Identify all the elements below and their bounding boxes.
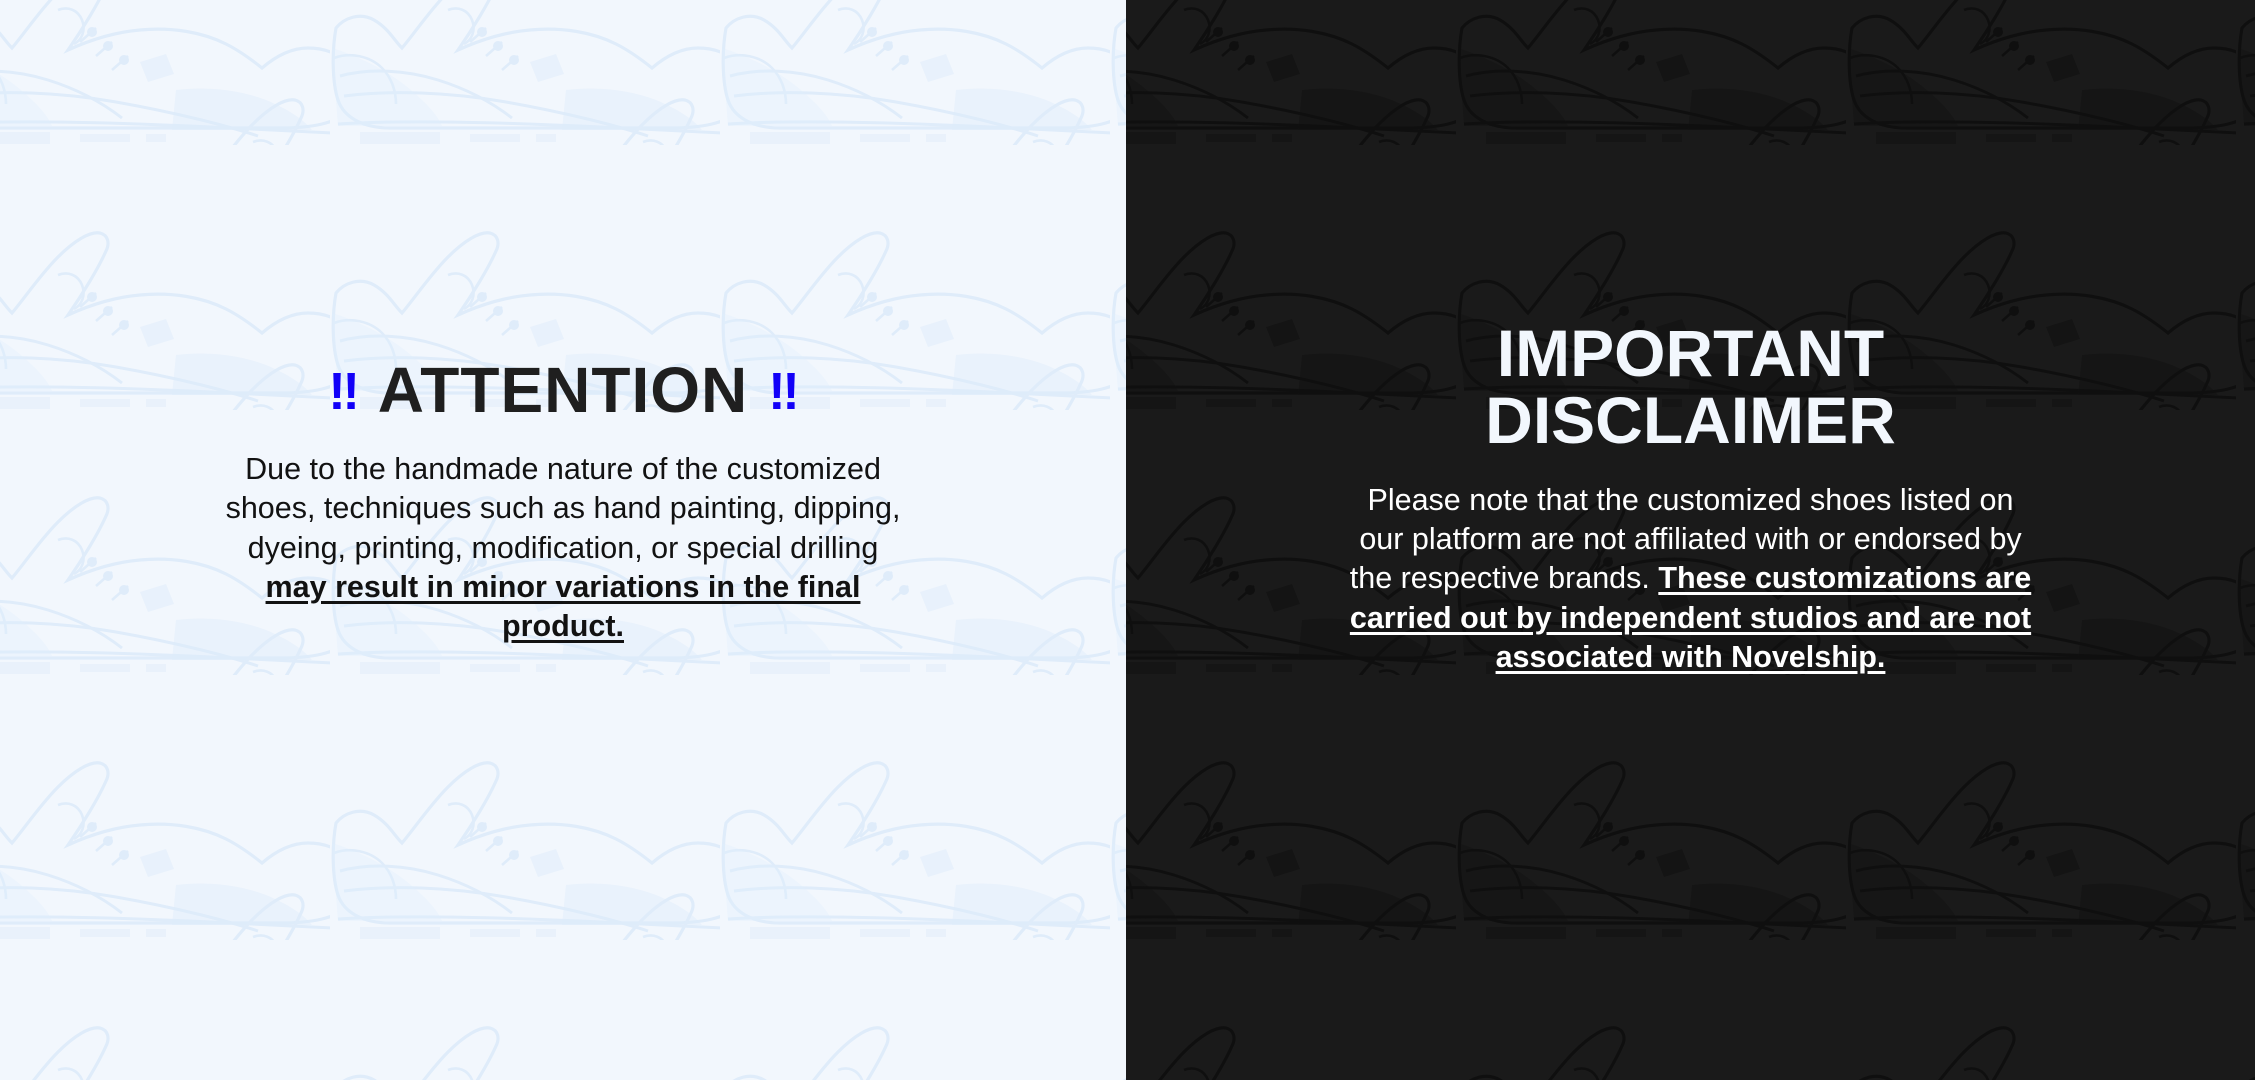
disclaimer-banner: ‼ATTENTION‼ Due to the handmade nature o… bbox=[0, 0, 2255, 1080]
attention-body-plain: Due to the handmade nature of the custom… bbox=[226, 452, 901, 565]
double-exclamation-icon-right: ‼ bbox=[768, 363, 797, 421]
disclaimer-headline: IMPORTANT DISCLAIMER bbox=[1381, 320, 2001, 455]
attention-panel: ‼ATTENTION‼ Due to the handmade nature o… bbox=[0, 0, 1126, 1080]
disclaimer-body: Please note that the customized shoes li… bbox=[1346, 481, 2036, 678]
attention-content: ‼ATTENTION‼ Due to the handmade nature o… bbox=[0, 0, 1126, 647]
disclaimer-content: IMPORTANT DISCLAIMER Please note that th… bbox=[1126, 0, 2255, 677]
disclaimer-panel: IMPORTANT DISCLAIMER Please note that th… bbox=[1126, 0, 2255, 1080]
double-exclamation-icon-left: ‼ bbox=[328, 363, 357, 421]
attention-body: Due to the handmade nature of the custom… bbox=[223, 450, 903, 647]
attention-body-emphasis: may result in minor variations in the fi… bbox=[266, 570, 861, 643]
attention-headline-text: ATTENTION bbox=[378, 354, 748, 426]
attention-headline: ‼ATTENTION‼ bbox=[0, 358, 1126, 422]
